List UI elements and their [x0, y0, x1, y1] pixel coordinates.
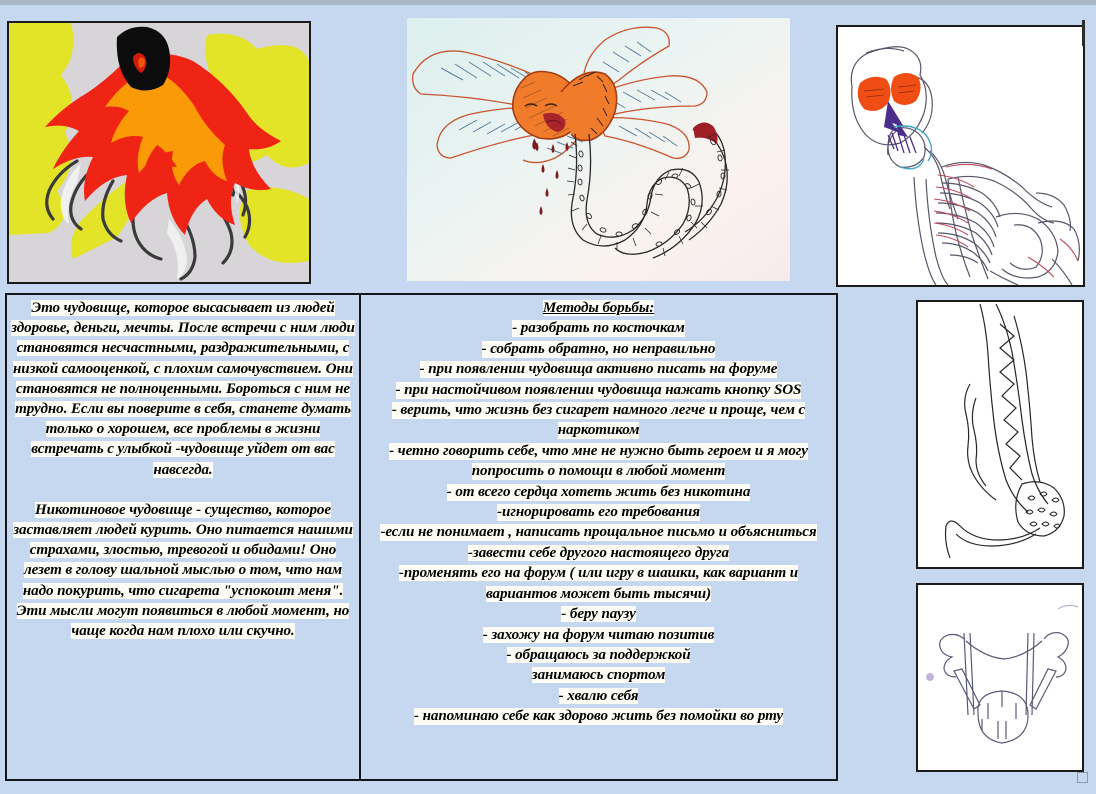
method-item: - собрать обратно, но неправильно [365, 339, 832, 359]
method-item: - беру паузу [365, 604, 832, 624]
method-item: -променять его на форум ( или игру в шаш… [365, 563, 832, 604]
method-item: - от всего сердца хотеть жить без никоти… [365, 482, 832, 502]
left-paragraph-1: Это чудовище, которое высасывает из люде… [11, 298, 355, 480]
winged-creature-drawing[interactable] [407, 18, 790, 281]
text-column-left[interactable]: Это чудовище, которое высасывает из люде… [7, 295, 361, 779]
flame-monster-svg [9, 23, 309, 282]
text-table[interactable]: Это чудовище, которое высасывает из люде… [5, 293, 838, 781]
worm-drawing[interactable] [916, 300, 1084, 569]
method-item: занимаюсь спортом [365, 665, 832, 685]
text-caret [1082, 20, 1085, 46]
resize-handle[interactable] [1077, 772, 1088, 783]
method-item: - хвалю себя [365, 686, 832, 706]
skeleton-svg [838, 27, 1083, 285]
flame-monster-drawing[interactable] [7, 21, 311, 284]
winged-creature-svg [407, 18, 790, 281]
method-item: - верить, что жизнь без сигарет намного … [365, 400, 832, 441]
method-item: - четно говорить себе, что мне не нужно … [365, 441, 832, 482]
methods-heading: Методы борьбы: [365, 298, 832, 318]
worm-svg [918, 302, 1082, 567]
method-item: -завести себе другого настоящего друга [365, 543, 832, 563]
text-column-right[interactable]: Методы борьбы: - разобрать по косточкам … [361, 295, 836, 779]
method-item: - обращаюсь за поддержкой [365, 645, 832, 665]
method-item: - напоминаю себе как здорово жить без по… [365, 706, 832, 726]
method-item: - при настойчивом появлении чудовища наж… [365, 380, 832, 400]
method-item: -если не понимает , написать прощальное … [365, 522, 832, 542]
window-top-strip [0, 0, 1096, 5]
method-item: - захожу на форум читаю позитив [365, 625, 832, 645]
method-item: -игнорировать его требования [365, 502, 832, 522]
flame-monster-canvas [9, 23, 309, 282]
skeleton-drawing[interactable] [836, 25, 1085, 287]
left-paragraph-2: Никотиновое чудовище - существо, которое… [11, 500, 355, 641]
method-item: - при появлении чудовища активно писать … [365, 359, 832, 379]
method-item: - разобрать по косточкам [365, 318, 832, 338]
mouth-drawing[interactable] [916, 583, 1084, 772]
mouth-svg [918, 585, 1082, 770]
